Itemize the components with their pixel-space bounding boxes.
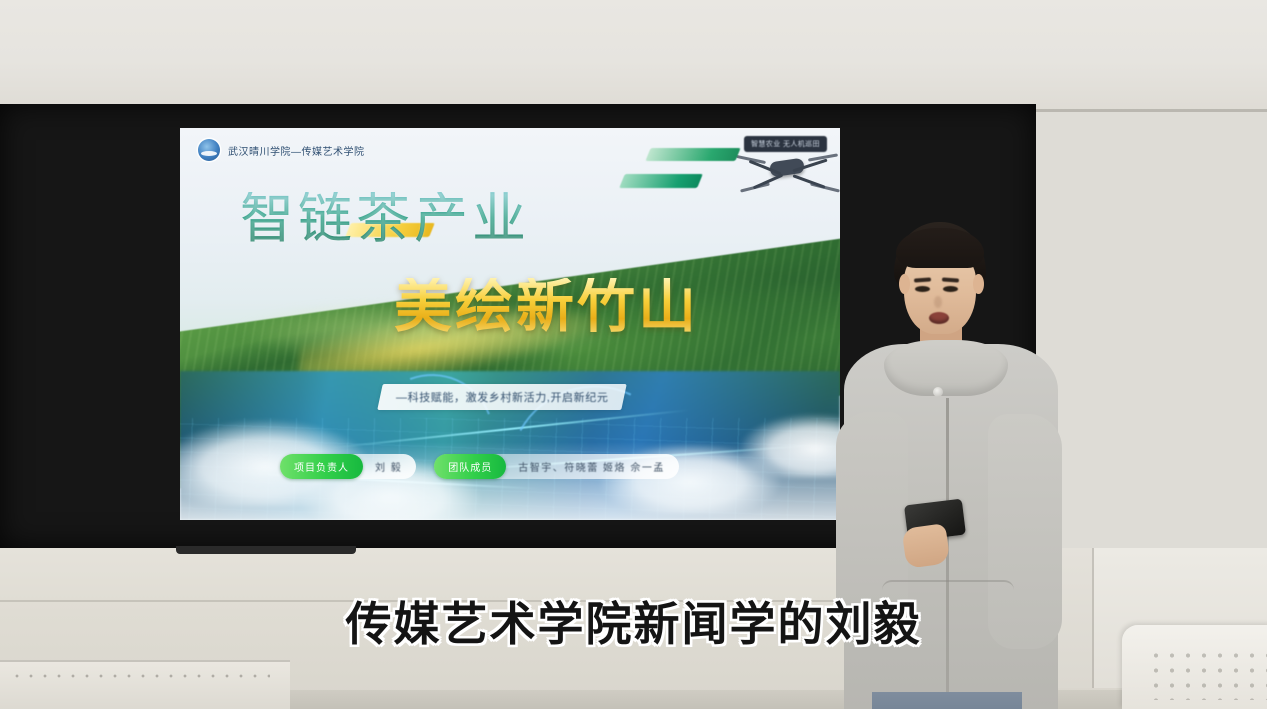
slide-credits: 项目负责人 刘 毅 团队成员 古智宇、符晓蕾 姬烙 佘一孟 xyxy=(280,454,679,479)
drone-propeller xyxy=(810,182,840,192)
presenter-eye-left xyxy=(915,286,930,292)
drone-illustration: 智慧农业 无人机巡田 xyxy=(736,136,840,198)
desk-perforations xyxy=(10,673,270,679)
video-caption: 传媒艺术学院新闻学的刘毅 xyxy=(0,588,1267,654)
decor-stripe-green-bottom xyxy=(619,174,703,188)
drone-propeller xyxy=(740,182,770,192)
presenter-ear-left xyxy=(899,274,910,294)
slide-title-line1: 智链茶产业 xyxy=(240,192,530,246)
credit-members-pill: 团队成员 xyxy=(434,454,506,479)
presenter-hair-fringe xyxy=(896,228,984,268)
presenter-nose xyxy=(934,296,942,308)
display-mount xyxy=(176,546,356,554)
credit-members-value: 古智宇、符晓蕾 姬烙 佘一孟 xyxy=(506,459,665,474)
credit-members: 团队成员 古智宇、符晓蕾 姬烙 佘一孟 xyxy=(434,454,679,479)
school-name-label: 武汉晴川学院—传媒艺术学院 xyxy=(228,143,365,158)
presenter-ear-right xyxy=(973,274,984,294)
drone-label: 智慧农业 无人机巡田 xyxy=(744,136,827,152)
presenter-trousers xyxy=(872,692,1022,709)
presenter-eye-right xyxy=(943,286,958,292)
presenter-hood-grommet xyxy=(933,387,943,397)
slide-subtitle-text: —科技赋能，激发乡村新活力,开启新纪元 xyxy=(396,389,608,405)
school-logo-icon xyxy=(198,139,220,161)
chair-perforations xyxy=(1148,648,1267,700)
screenshot-stage: 武汉晴川学院—传媒艺术学院 智慧农业 无人机巡田 智链茶产业 美绘新竹山 —科技… xyxy=(0,0,1267,709)
presenter-hood xyxy=(884,340,1008,396)
desk-surface xyxy=(0,660,290,709)
slide-subtitle-bar: —科技赋能，激发乡村新活力,开启新纪元 xyxy=(377,384,627,410)
credit-leader-pill: 项目负责人 xyxy=(280,454,363,479)
credit-leader-value: 刘 毅 xyxy=(363,459,402,474)
presenter-mouth xyxy=(929,312,949,324)
upper-wall xyxy=(0,0,1267,112)
presentation-slide[interactable]: 武汉晴川学院—传媒艺术学院 智慧农业 无人机巡田 智链茶产业 美绘新竹山 —科技… xyxy=(180,128,840,520)
slide-title-line2: 美绘新竹山 xyxy=(394,278,699,336)
credit-leader: 项目负责人 刘 毅 xyxy=(280,454,416,479)
decor-stripe-green-top xyxy=(645,148,740,161)
